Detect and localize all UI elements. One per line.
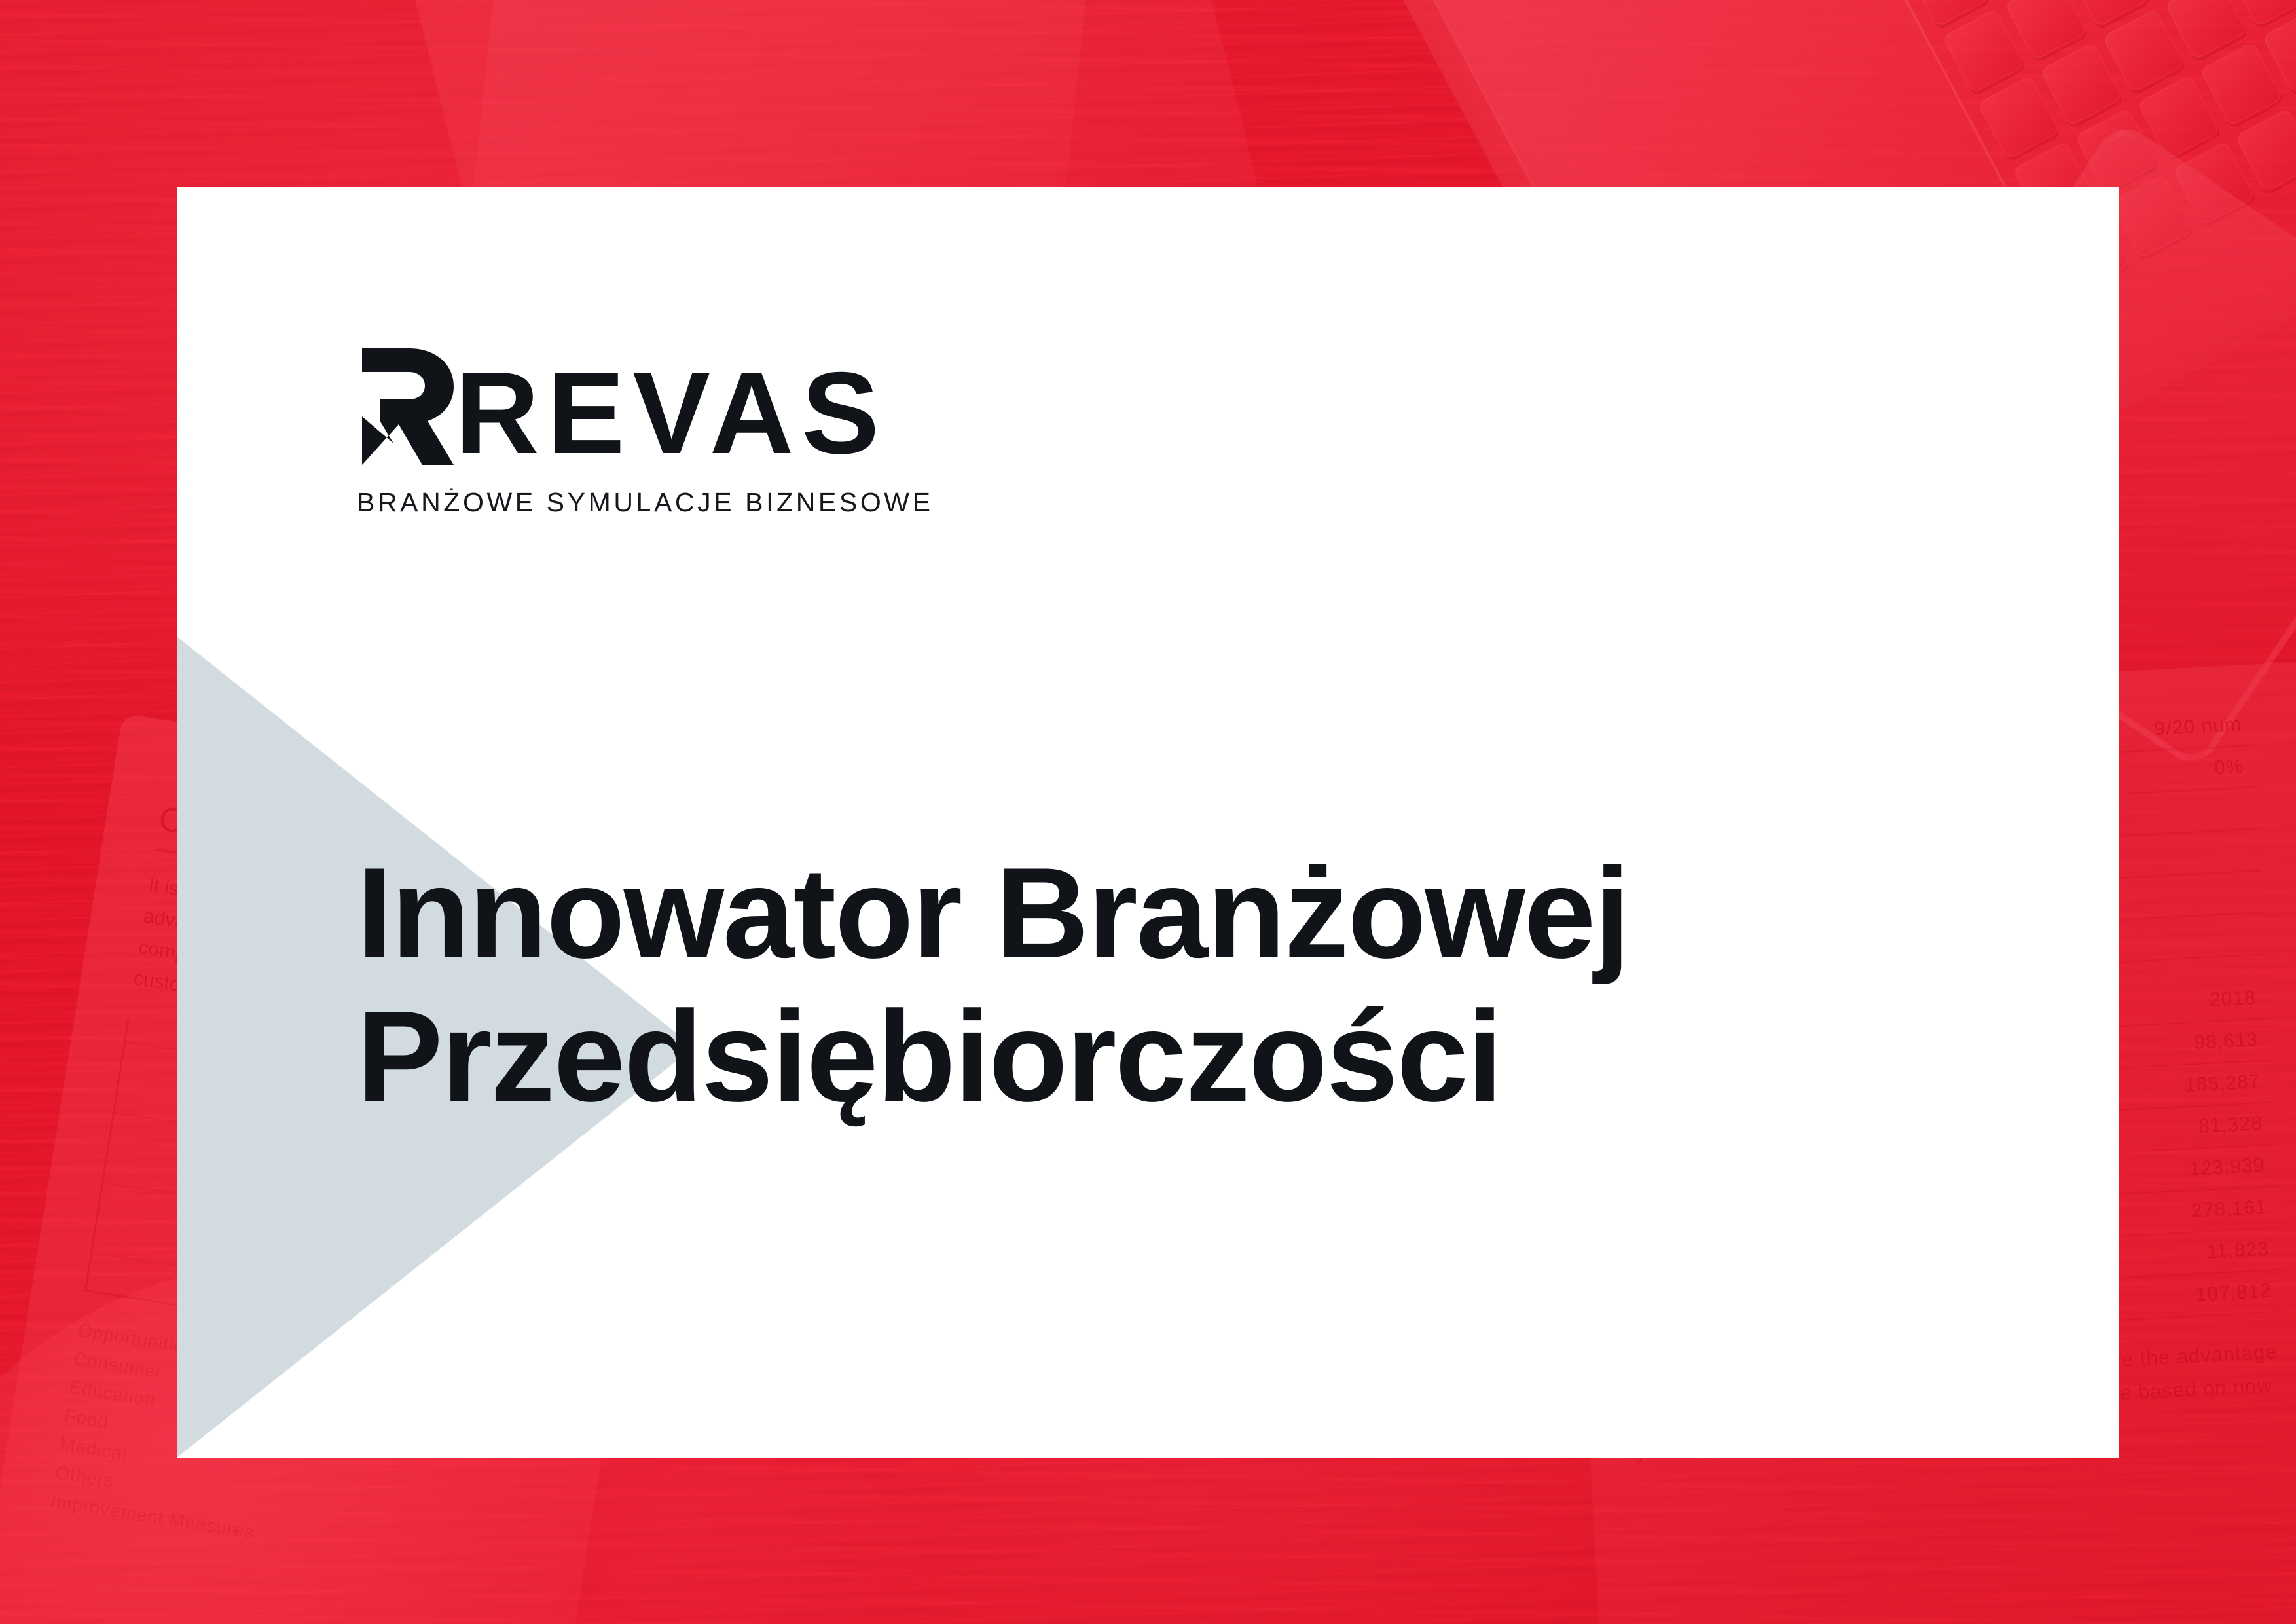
title-line-1: Innowator Branżowej (357, 841, 1629, 985)
content-card: REVAS BRANŻOWE SYMULACJE BIZNESOWE Innow… (177, 187, 2119, 1458)
page-title: Innowator Branżowej Przedsiębiorczości (357, 841, 1629, 1128)
title-line-2: Przedsiębiorczości (357, 985, 1629, 1128)
logo-lockup: REVAS (357, 348, 934, 465)
logo-wordmark: REVAS (455, 362, 887, 465)
revas-logo: REVAS BRANŻOWE SYMULACJE BIZNESOWE (357, 348, 934, 518)
logo-tagline: BRANŻOWE SYMULACJE BIZNESOWE (357, 487, 934, 518)
presentation-slide: 2018 9/20 num 128,281 0% 81,328 123,919 … (0, 0, 2296, 1624)
revas-r-mark-icon (357, 348, 454, 465)
